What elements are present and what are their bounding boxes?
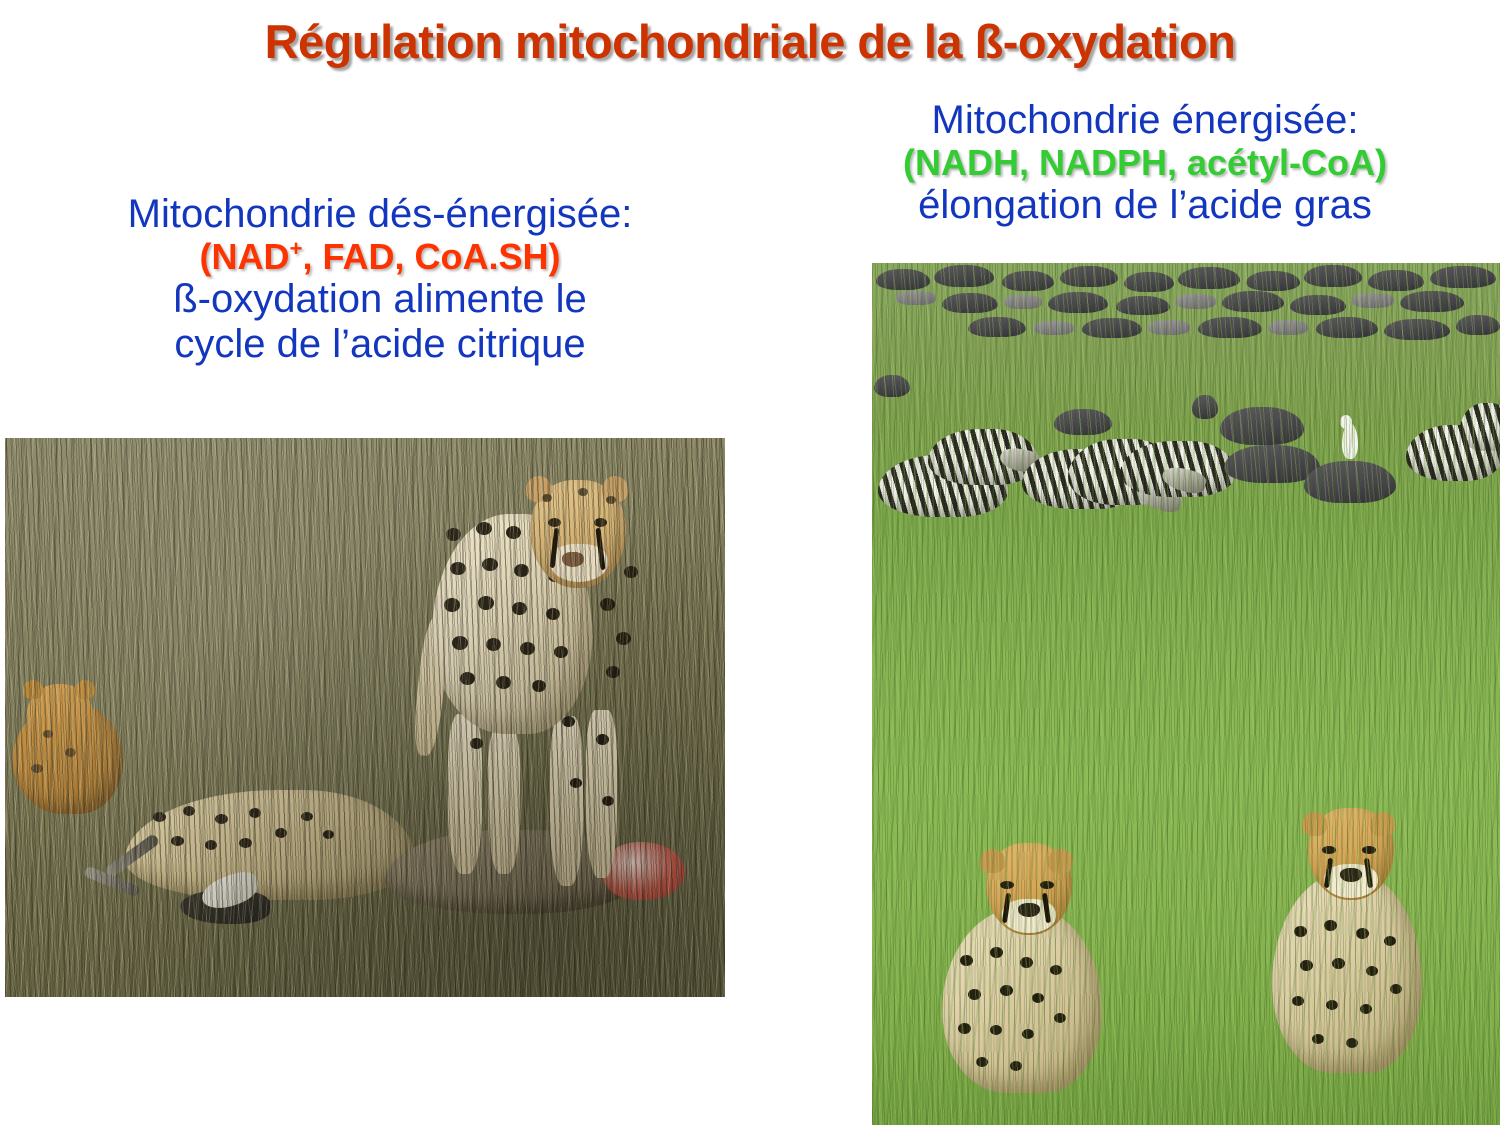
photo-cheetahs-in-green-grass bbox=[872, 263, 1500, 1125]
left-text-block: Mitochondrie dés-énergisée: (NAD+, FAD, … bbox=[0, 192, 760, 367]
right-line-2-cofactors: (NADH, NADPH, acétyl-CoA) bbox=[790, 143, 1500, 183]
left-line-2-cofactors: (NAD+, FAD, CoA.SH) bbox=[0, 237, 760, 277]
photo-cheetah-with-kill bbox=[5, 438, 725, 997]
right-text-block: Mitochondrie énergisée: (NADH, NADPH, ac… bbox=[790, 98, 1500, 228]
right-photo-canvas bbox=[872, 263, 1500, 1125]
left-line-4: cycle de l’acide citrique bbox=[0, 322, 760, 367]
left-photo-canvas bbox=[5, 438, 725, 997]
slide-canvas: Régulation mitochondriale de la ß-oxydat… bbox=[0, 0, 1500, 1125]
page-title: Régulation mitochondriale de la ß-oxydat… bbox=[0, 14, 1500, 69]
green-grass-texture bbox=[872, 263, 1500, 1125]
right-line-1: Mitochondrie énergisée: bbox=[790, 98, 1500, 143]
superscript-plus: + bbox=[289, 236, 302, 261]
dry-photo-shading bbox=[5, 438, 725, 997]
left-line-1: Mitochondrie dés-énergisée: bbox=[0, 192, 760, 237]
right-line-3: élongation de l’acide gras bbox=[790, 183, 1500, 228]
left-line-2-prefix: (NAD bbox=[199, 236, 289, 277]
left-line-2-suffix: , FAD, CoA.SH) bbox=[303, 236, 561, 277]
left-line-3: ß-oxydation alimente le bbox=[0, 277, 760, 322]
